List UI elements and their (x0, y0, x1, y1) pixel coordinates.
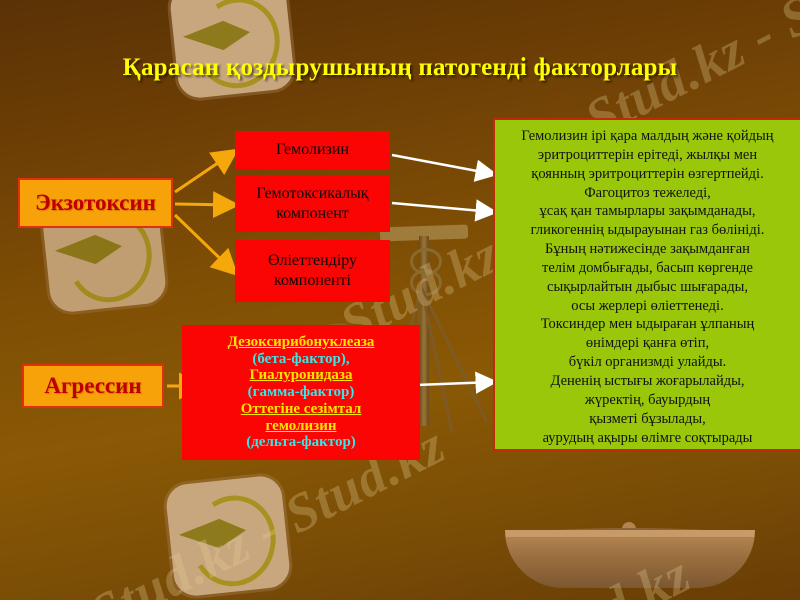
description-line: осы жерлері өліеттенеді. (503, 297, 792, 316)
description-line: жүректің, бауырдың (503, 391, 792, 410)
box-necrotizing-line1: Өліеттендіру (268, 252, 357, 269)
description-line: ұсақ қан тамырлары зақымданады, (503, 202, 792, 221)
description-line: өнімдері қанға өтіп, (503, 334, 792, 353)
box-agressin[interactable]: Агрессин (22, 364, 164, 408)
description-line: Фагоцитоз тежеледі, (503, 184, 792, 203)
description-line: Бұның нәтижесінде зақымданған (503, 240, 792, 259)
description-line: Дененің ыстығы жоғарылайды, (503, 372, 792, 391)
agressin-factor-line: Гиалуронидаза (228, 367, 375, 384)
box-gemolizin[interactable]: Гемолизин (235, 131, 390, 169)
box-exotoxin-label: Экзотоксин (35, 190, 156, 216)
box-gemotoxic-component[interactable]: Гемотоксикалық компонент (235, 176, 390, 232)
box-gemotoxic-line2: компонент (276, 205, 349, 222)
description-line: сықырлайтын дыбыс шығарады, (503, 278, 792, 297)
description-line: Гемолизин ірі қара малдың және қойдың (503, 127, 792, 146)
box-gemolizin-label: Гемолизин (276, 140, 349, 160)
description-panel: Гемолизин ірі қара малдың және қойдың эр… (493, 118, 800, 451)
agressin-factor-line: (дельта-фактор) (228, 434, 375, 451)
box-necrotizing-component[interactable]: Өліеттендіру компоненті (235, 240, 390, 302)
description-line: қызметі бұзылады, (503, 410, 792, 429)
agressin-factor-line: Оттегіне сезімтал (228, 401, 375, 418)
agressin-factor-line: гемолизин (228, 418, 375, 435)
agressin-factor-line: (гамма-фактор) (228, 384, 375, 401)
description-line: телім домбығады, басып көргенде (503, 259, 792, 278)
box-exotoxin[interactable]: Экзотоксин (18, 178, 173, 228)
box-gemotoxic-line1: Гемотоксикалық (256, 185, 368, 202)
agressin-factor-line: Дезоксирибонуклеаза (228, 334, 375, 351)
box-agressin-factors[interactable]: Дезоксирибонуклеаза (бета-фактор), Гиалу… (182, 325, 420, 460)
description-line: бүкіл организмді улайды. (503, 353, 792, 372)
box-agressin-label: Агрессин (44, 373, 141, 399)
description-line: аурудың ақыры өлімге соқтырады (503, 429, 792, 448)
description-line: Токсиндер мен ыдыраған ұлпаның (503, 315, 792, 334)
page-title: Қарасан қоздырушының патогенді факторлар… (0, 54, 800, 82)
description-line: қоянның эритроциттерін өзгертпейді. (503, 165, 792, 184)
box-necrotizing-line2: компоненті (274, 272, 351, 289)
decorative-logo-icon (168, 0, 295, 100)
agressin-factor-line: (бета-фактор), (228, 351, 375, 368)
description-line: гликогеннің ыдырауынан газ бөлініді. (503, 221, 792, 240)
description-line: эритроциттерін ерітеді, жылқы мен (503, 146, 792, 165)
